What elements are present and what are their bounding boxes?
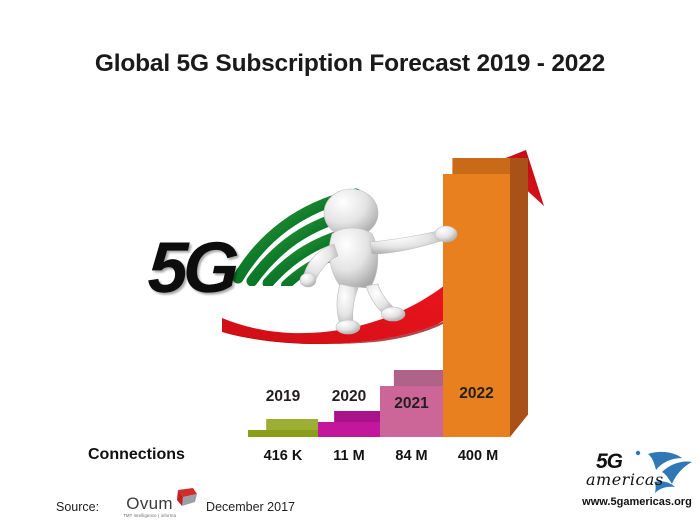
value-label-2019: 416 K — [248, 448, 318, 464]
slide-canvas: Global 5G Subscription Forecast 2019 - 2… — [0, 0, 700, 525]
logo-url-text: www.5gamericas.org — [578, 496, 696, 508]
bar-label-2021: 2021 — [380, 395, 443, 413]
ovum-tagline: TMT intelligence | informa — [123, 513, 176, 518]
bar-2021-top-face — [380, 370, 443, 386]
connections-row-label: Connections — [88, 446, 185, 464]
bar-2020-top-face — [318, 411, 380, 422]
source-label: Source: — [56, 500, 99, 514]
bar-2022-side-face — [510, 158, 528, 437]
surfer-figure-icon — [296, 186, 466, 336]
bar-2019 — [248, 419, 318, 437]
value-label-2021: 84 M — [380, 448, 443, 464]
bar-2020-front-face — [318, 422, 380, 437]
chart-stage: 2022 2021 2020 2019 5G — [0, 0, 700, 525]
ovum-flag-icon — [175, 488, 199, 510]
bar-2019-front-face — [248, 430, 318, 437]
fiveg-wordmark: 5G — [147, 232, 236, 304]
bar-label-2022: 2022 — [443, 385, 510, 403]
value-label-2020: 11 M — [318, 448, 380, 464]
bar-label-2020: 2020 — [318, 388, 380, 406]
source-line: Source: Ovum TMT intelligence | informa … — [56, 495, 295, 518]
ovum-name: Ovum — [126, 495, 173, 512]
logo-americas-text: americas — [586, 470, 664, 489]
ovum-logo: Ovum TMT intelligence | informa — [123, 495, 176, 518]
bar-label-2019: 2019 — [248, 388, 318, 406]
bar-2020 — [318, 411, 380, 437]
bar-2019-top-face — [248, 419, 318, 430]
brand-logo[interactable]: 5G americas www.5gamericas.org — [578, 448, 696, 514]
source-date: December 2017 — [206, 500, 295, 514]
bar-2021: 2021 — [380, 370, 443, 437]
bar-2022-top-face — [443, 158, 510, 174]
value-label-2022: 400 M — [443, 448, 513, 464]
